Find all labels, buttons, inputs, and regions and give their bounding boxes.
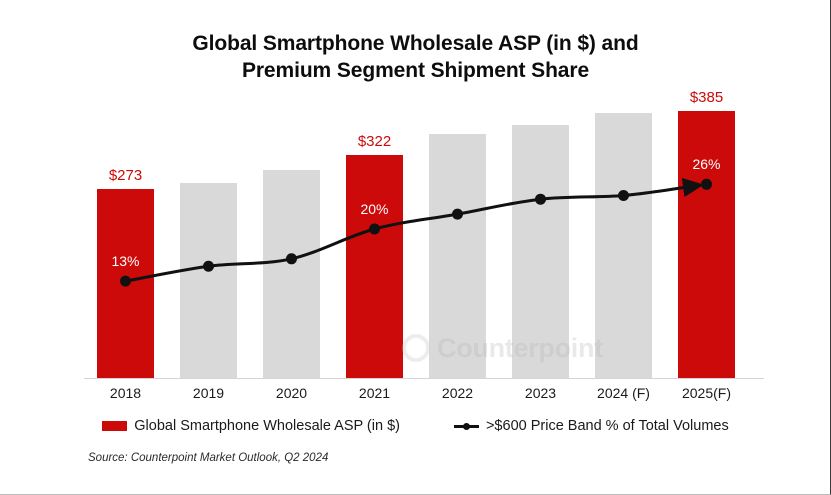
line-marker-2023[interactable] [535,194,546,205]
line-marker-2019[interactable] [203,261,214,272]
legend-line-dot-swatch-icon [454,420,479,432]
bar-value-label-2025F: $385 [667,89,747,106]
line-series-layer [84,80,748,378]
line-marker-2021[interactable] [369,224,380,235]
pct-label-2018: 13% [86,253,166,269]
x-label-2023: 2023 [496,385,586,401]
legend-label-price-band: >$600 Price Band % of Total Volumes [486,418,729,434]
line-marker-2022[interactable] [452,209,463,220]
line-marker-2020[interactable] [286,253,297,264]
x-label-2022: 2022 [413,385,503,401]
chart-title: Global Smartphone Wholesale ASP (in $) a… [0,30,831,84]
bar-value-label-2021: $322 [335,133,415,150]
chart-title-line-1: Global Smartphone Wholesale ASP (in $) a… [192,32,638,55]
chart-container: Global Smartphone Wholesale ASP (in $) a… [0,0,831,495]
line-marker-2024F[interactable] [618,190,629,201]
x-axis-line [84,378,764,379]
pct-label-2025F: 26% [667,156,747,172]
x-label-2018: 2018 [81,385,171,401]
plot-area: Counterpoint $27313%$32220%$38526% [84,80,748,378]
x-label-2024F: 2024 (F) [579,385,669,401]
legend-item-asp[interactable]: Global Smartphone Wholesale ASP (in $) [102,418,400,434]
chart-legend: Global Smartphone Wholesale ASP (in $) >… [0,418,831,434]
x-label-2020: 2020 [247,385,337,401]
source-note: Source: Counterpoint Market Outlook, Q2 … [88,452,328,464]
line-markers [120,179,712,287]
legend-bar-swatch-icon [102,421,127,431]
x-label-2025F: 2025(F) [662,385,752,401]
legend-label-asp: Global Smartphone Wholesale ASP (in $) [134,418,400,434]
line-marker-2025F[interactable] [701,179,712,190]
pct-label-2021: 20% [335,201,415,217]
bar-value-label-2018: $273 [86,167,166,184]
legend-item-price-band[interactable]: >$600 Price Band % of Total Volumes [454,418,729,434]
line-marker-2018[interactable] [120,276,131,287]
x-label-2021: 2021 [330,385,420,401]
x-label-2019: 2019 [164,385,254,401]
